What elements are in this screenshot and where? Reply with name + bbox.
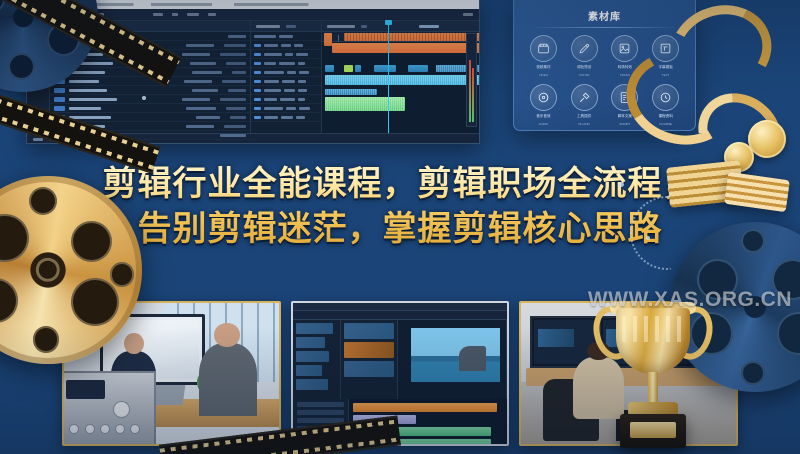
clip-flags [220,98,246,101]
clip-flags [228,89,246,92]
menu-item-graphics[interactable] [172,13,178,16]
library-item-video[interactable]: 视频素材 VIDEO [523,35,564,78]
table-row[interactable] [251,50,321,59]
library-item-sub: AUDIO [539,122,549,126]
timecode-display [419,25,439,28]
table-row[interactable] [251,59,321,68]
menu-item-window[interactable] [187,13,199,16]
clip[interactable] [408,65,428,72]
status-icon [33,138,43,141]
effect-controls-title [256,25,280,28]
effect-value [286,107,296,110]
effect-key [298,62,305,65]
tree-item [296,365,322,376]
effect-toggle[interactable] [254,62,261,65]
course-poster: 素材库 视频素材 VIDEO 调色预设 COLOR [0,0,800,454]
sort-control[interactable] [228,35,246,38]
library-item-sub: TRANS [620,73,630,77]
window-title-text [37,3,475,6]
clip-name [69,80,99,83]
timeline-track-a2[interactable] [322,75,467,87]
effect-col-value [279,35,293,38]
media-bin-panel [341,320,398,399]
clip-flags [224,44,246,47]
trophy-plate [630,422,676,438]
timeline-title [327,25,355,28]
clip-name [69,116,111,119]
timeline-clip-video [353,403,497,412]
library-item-label: 音乐音效 [536,114,550,119]
clip[interactable] [344,33,480,41]
table-row[interactable] [251,86,321,95]
effect-value [282,80,295,83]
effect-toggle[interactable] [254,98,261,101]
menu-item-marker[interactable] [153,13,163,16]
effect-controls-panel[interactable] [251,21,322,133]
table-row[interactable] [251,77,321,86]
clip-flags [224,125,246,128]
effect-toggle[interactable] [254,116,261,119]
clip-flags [232,71,246,74]
clip[interactable] [325,65,334,72]
clip-flags [222,80,246,83]
clip-duration [186,125,214,128]
effect-name [264,89,281,92]
library-item-sub: COLOR [579,73,590,77]
timeline-tab[interactable] [361,25,367,28]
effect-name [264,53,282,56]
clip-flags [226,62,246,65]
image-frame-icon [611,35,638,62]
library-item-label: 视频素材 [536,65,550,70]
trophy-plinth [620,414,686,448]
mixer-knob [113,401,130,418]
mixer-knob [85,424,95,434]
effect-key [298,89,307,92]
gold-coin [748,120,786,158]
effect-header-row [251,32,321,41]
trophy-stem [648,372,658,404]
gold-trophy [598,280,708,452]
mixer-knob [69,424,79,434]
tools-icon [571,84,598,111]
clip[interactable] [344,65,353,72]
table-row[interactable] [251,41,321,50]
clip-duration [186,44,214,47]
app-toolbar [293,311,508,320]
effect-controls-header [251,21,321,32]
clip[interactable] [325,97,405,111]
timeline-header [322,21,479,32]
table-row[interactable] [251,95,321,104]
clip-duration [184,80,212,83]
effect-toggle[interactable] [254,107,261,110]
library-item-sub: SCRIPT [619,122,630,126]
effect-name [264,80,279,83]
effect-key [294,44,303,47]
clip-duration [192,89,218,92]
effect-value [280,98,295,101]
library-item-label: 脚本文案 [618,114,632,119]
clip-duration [196,116,220,119]
clip-name [69,98,117,101]
preview-image [411,328,500,382]
timeline-track-a3[interactable] [322,89,467,97]
library-item-label: 调色预设 [577,65,591,70]
timeline-track-v1[interactable] [322,43,467,53]
clip-duration [182,98,210,101]
sparkle [619,182,624,187]
effect-name [264,62,276,65]
effect-controls-tab[interactable] [286,25,296,28]
divider [529,27,680,28]
clip-thumb [54,97,65,102]
clip[interactable] [374,65,396,72]
timeline-track-a4[interactable] [322,97,467,113]
clip-name [69,89,107,92]
audio-mixer-device [62,371,156,446]
library-item-audio[interactable]: 音乐音效 AUDIO [523,84,564,127]
mixer-knob [130,424,140,434]
clip-duration [186,107,216,110]
effect-key [296,53,308,56]
effect-name [264,71,284,74]
sparkle [142,96,146,100]
clip[interactable] [355,65,361,72]
effect-key [299,107,310,110]
effect-name [264,116,278,119]
program-monitor [398,320,508,399]
effect-col-name [254,35,276,38]
effect-key [299,71,309,74]
clip-duration [220,134,246,137]
audio-meter [466,33,477,127]
table-row[interactable] [50,95,250,104]
app-upper-panels [293,320,508,399]
table-row[interactable] [251,113,321,122]
film-clapper-icon [530,35,557,62]
media-thumb [344,323,394,339]
tree-item [296,379,328,390]
clip-flags [226,107,246,110]
clip-flags [220,53,246,56]
table-row[interactable] [50,86,250,95]
trophy-cup [616,308,690,374]
tree-item [296,351,329,362]
effect-value [281,44,291,47]
clip[interactable] [325,75,480,85]
media-thumb [344,361,394,377]
effect-name [264,44,278,47]
timeline-panel[interactable] [322,21,479,133]
effect-toggle[interactable] [254,80,261,83]
menu-item-help[interactable] [208,13,216,16]
tree-item [296,323,333,334]
effect-name [264,98,277,101]
timeline-track-a1[interactable] [322,65,467,75]
library-item-plugin[interactable]: 工具插件 PLUGIN [564,84,605,127]
clip-thumb [54,88,65,93]
clip-flags [230,116,246,119]
effect-key [298,98,305,101]
person-listener [199,343,257,416]
clip[interactable] [325,89,377,95]
clip-duration [192,71,222,74]
library-item-label: 工具插件 [577,114,591,119]
media-thumb [344,342,394,358]
music-disc-icon [530,84,557,111]
effect-value [287,71,296,74]
app-titlebar [293,303,508,311]
workspace-selector[interactable] [463,13,473,16]
effect-toggle[interactable] [254,53,261,56]
sparkle [646,236,650,240]
effect-toggle[interactable] [254,44,261,47]
library-item-sub: PLUGIN [579,122,590,126]
pen-edit-icon [571,35,598,62]
table-row[interactable] [251,104,321,113]
tree-item [296,337,325,348]
clip[interactable] [332,43,480,53]
table-row[interactable] [251,68,321,77]
clip-thumb [54,106,65,111]
table-row[interactable] [50,104,250,113]
effect-key [298,80,306,83]
library-item-sub: VIDEO [539,73,548,77]
library-item-color[interactable]: 调色预设 COLOR [564,35,605,78]
effect-toggle[interactable] [254,71,261,74]
effect-value [279,62,295,65]
effect-key [296,116,305,119]
material-library-title: 素材库 [523,8,686,23]
effect-value [284,89,295,92]
library-item-label: 转场特效 [618,65,632,70]
effect-value [285,53,293,56]
mixer-knob [115,424,125,434]
effect-name [264,107,283,110]
clip-name [69,107,101,110]
effect-value [281,116,293,119]
clip-duration [182,53,210,56]
clip-duration [190,62,216,65]
playhead[interactable] [388,21,389,133]
project-tree-panel [293,320,341,399]
effect-toggle[interactable] [254,89,261,92]
mixer-knob [100,424,110,434]
